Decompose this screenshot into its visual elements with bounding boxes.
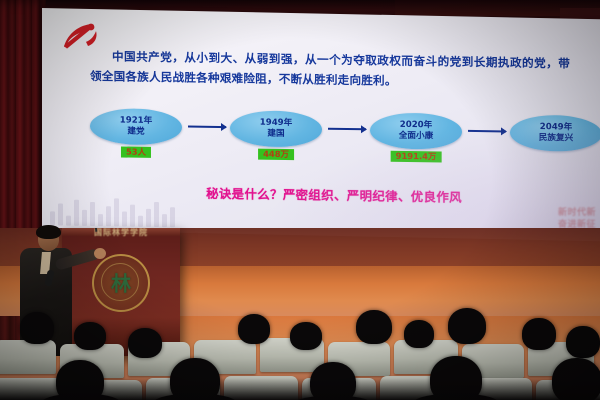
timeline-node-1-year: 1921年 [120,115,153,127]
timeline-arrow-1 [188,126,226,129]
presenter-hair [36,225,61,239]
audience-head [74,322,106,350]
audience-head [290,322,322,350]
audience-head [238,314,270,344]
stage-curtain-left [0,0,46,252]
timeline-node-3: 2020年 全面小康 9191.4万 [370,112,462,149]
audience-head [356,310,392,344]
timeline-node-2-event: 建国 [267,129,284,140]
timeline-node-3-year: 2020年 [400,120,433,132]
audience-head [566,326,600,358]
seat [0,340,56,374]
timeline-node-3-tag: 9191.4万 [391,151,442,163]
timeline-node-1-oval: 1921年 建党 [90,108,182,145]
university-seal-mark: 林 [111,273,131,293]
audience-head [404,320,434,348]
wall-banner-text: 新时代新 奋进新征 [532,206,596,230]
timeline-node-2-year: 1949年 [260,118,293,130]
slide-body-text: 中国共产党，从小到大、从弱到强，从一个为夺取政权而奋斗的党到长期执政的党，带领全… [90,46,570,94]
timeline-node-1: 1921年 建党 53人 [90,108,182,145]
audience-head [128,328,162,358]
audience-head [20,312,54,344]
timeline-node-1-tag: 53人 [121,146,151,157]
lecture-hall-photo: 中国共产党，从小到大、从弱到强，从一个为夺取政权而奋斗的党到长期执政的党，带领全… [0,0,600,400]
audience-head [522,318,556,350]
timeline-node-2-tag: 448万 [258,149,294,161]
presenter-hand [94,248,106,259]
timeline-arrow-2 [328,128,366,131]
slide-watermark [48,191,198,227]
audience-seating [0,300,600,400]
wall-banner-line-1: 新时代新 [532,206,596,218]
timeline-node-1-event: 建党 [127,127,144,138]
timeline-node-2: 1949年 建国 448万 [230,110,322,147]
timeline-node-3-event: 全面小康 [399,131,433,143]
timeline-node-2-oval: 1949年 建国 [230,110,322,147]
timeline-node-4-year: 2049年 [540,122,573,134]
timeline-node-3-oval: 2020年 全面小康 [370,112,462,149]
timeline-arrow-3 [468,130,506,133]
audience-head [448,308,486,344]
foreground-shadow [0,378,600,400]
timeline-diagram: 1921年 建党 53人 1949年 建国 448万 202 [82,108,600,178]
projection-screen: 中国共产党，从小到大、从弱到强，从一个为夺取政权而奋斗的党到长期执政的党，带领全… [42,8,600,241]
timeline-node-4-event: 民族复兴 [539,133,573,145]
timeline-node-4: 2049年 民族复兴 [510,115,600,152]
timeline-node-4-oval: 2049年 民族复兴 [510,115,600,152]
